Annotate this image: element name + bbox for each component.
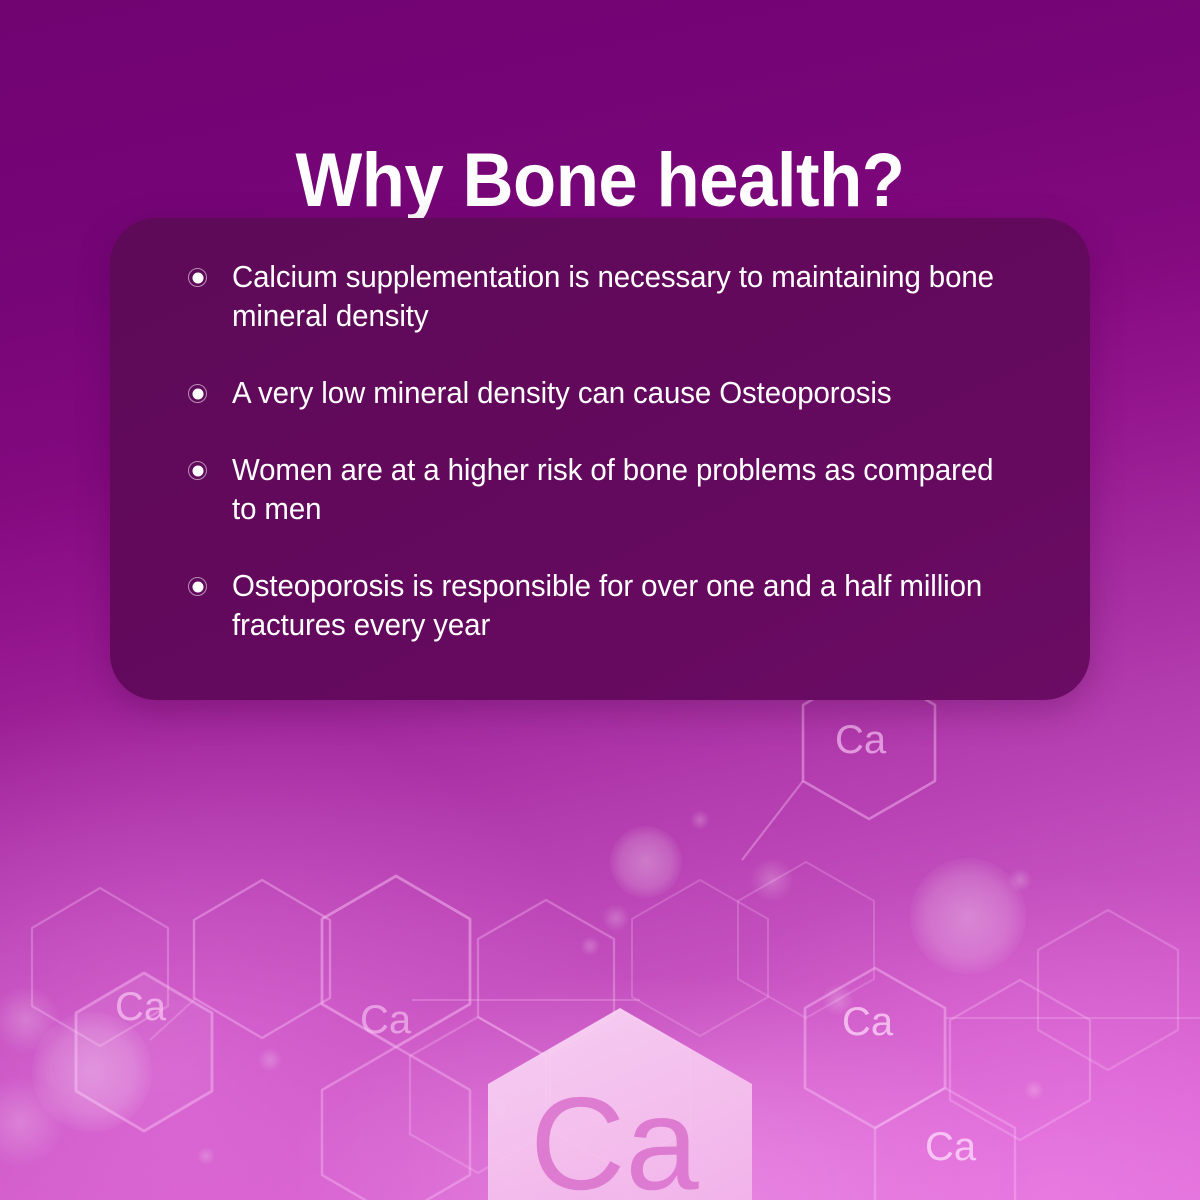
slide-canvas: Ca Ca Ca Ca Ca Ca Why Bone health? Calci… [0,0,1200,1200]
list-item-text: Calcium supplementation is necessary to … [232,258,1010,336]
bullet-list: Calcium supplementation is necessary to … [174,258,1038,645]
list-item: Osteoporosis is responsible for over one… [174,567,1038,645]
list-item: Women are at a higher risk of bone probl… [174,451,1038,529]
bullet-card: Calcium supplementation is necessary to … [110,218,1090,700]
list-item: A very low mineral density can cause Ost… [174,374,1038,413]
page-title: Why Bone health? [42,143,1158,219]
bullet-dot-icon [188,384,207,403]
bullet-dot-icon [188,461,207,480]
list-item-text: Osteoporosis is responsible for over one… [232,567,1010,645]
list-item: Calcium supplementation is necessary to … [174,258,1038,336]
bullet-dot-icon [188,577,207,596]
list-item-text: A very low mineral density can cause Ost… [232,374,1010,413]
bullet-dot-icon [188,268,207,287]
background-glow-center [300,980,1000,1200]
list-item-text: Women are at a higher risk of bone probl… [232,451,1010,529]
